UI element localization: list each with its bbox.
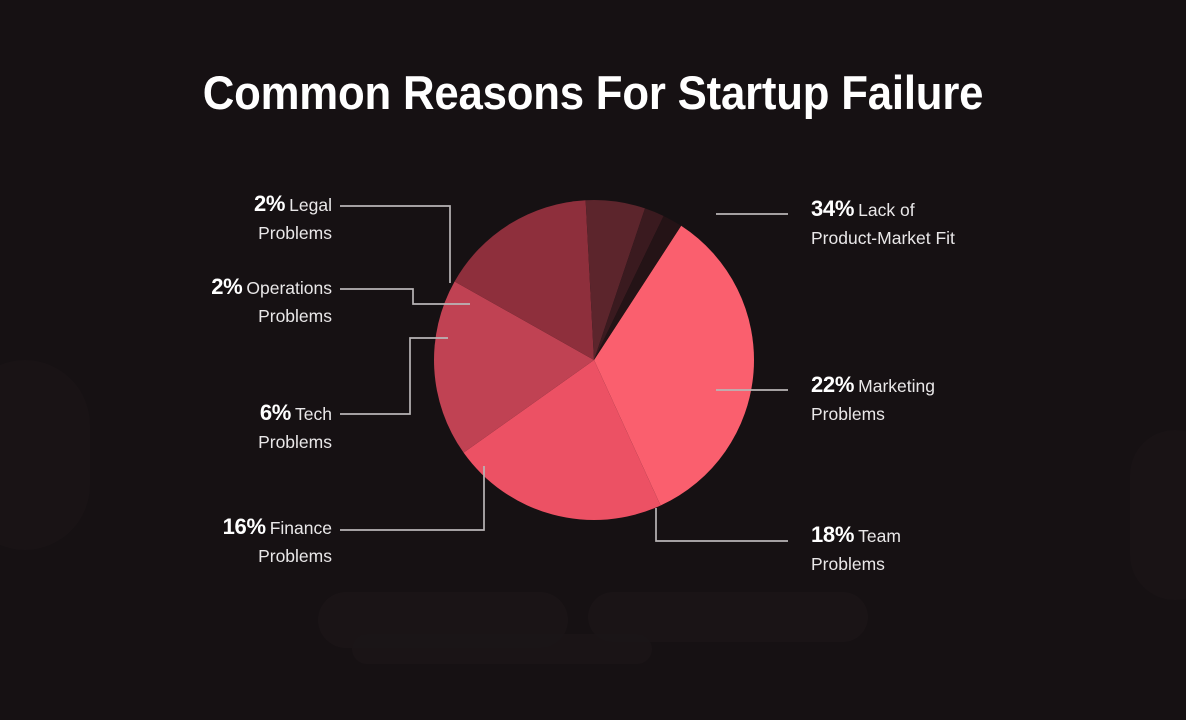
leader-line-tech: [340, 338, 448, 414]
callout-pmf-percent: 34%: [811, 196, 854, 221]
callout-legal: 2%Legal Problems: [254, 190, 332, 247]
callout-finance-percent: 16%: [223, 514, 266, 539]
callout-marketing-label-line2: Problems: [811, 401, 935, 429]
callout-team-percent: 18%: [811, 522, 854, 547]
callout-tech-percent: 6%: [260, 400, 291, 425]
callout-operations-percent: 2%: [211, 274, 242, 299]
callout-marketing-percent: 22%: [811, 372, 854, 397]
leader-line-legal: [340, 206, 450, 283]
leader-line-finance: [340, 466, 484, 530]
callout-pmf-label-line1: Lack of: [858, 200, 914, 220]
callout-marketing-label-line1: Marketing: [858, 376, 935, 396]
callout-finance-label-line1: Finance: [270, 518, 332, 538]
pie-slice-group: [434, 200, 754, 520]
callout-team-label-line1: Team: [858, 526, 901, 546]
callout-pmf-label-line2: Product-Market Fit: [811, 225, 955, 253]
infographic-canvas: Common Reasons For Startup Failure 2%Leg…: [0, 0, 1186, 720]
callout-legal-label-line1: Legal: [289, 195, 332, 215]
callout-product-market-fit: 34%Lack of Product-Market Fit: [811, 195, 955, 252]
callout-legal-percent: 2%: [254, 191, 285, 216]
callout-finance-label-line2: Problems: [223, 543, 332, 571]
callout-finance: 16%Finance Problems: [223, 513, 332, 570]
callout-legal-label-line2: Problems: [254, 220, 332, 248]
callout-team: 18%Team Problems: [811, 521, 901, 578]
callout-operations-label-line2: Problems: [211, 303, 332, 331]
callout-tech: 6%Tech Problems: [258, 399, 332, 456]
pie-chart: [0, 0, 1186, 720]
callout-operations: 2%Operations Problems: [211, 273, 332, 330]
leader-line-team: [656, 508, 788, 541]
callout-operations-label-line1: Operations: [246, 278, 332, 298]
callout-tech-label-line1: Tech: [295, 404, 332, 424]
callout-marketing: 22%Marketing Problems: [811, 371, 935, 428]
callout-team-label-line2: Problems: [811, 551, 901, 579]
callout-tech-label-line2: Problems: [258, 429, 332, 457]
